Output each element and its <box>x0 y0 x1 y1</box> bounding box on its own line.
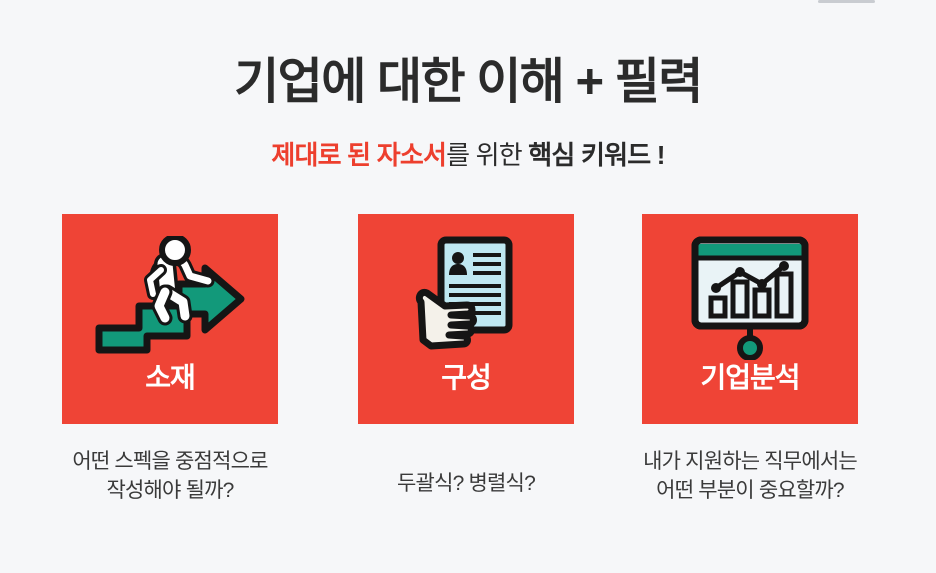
subtitle-middle: 를 위한 <box>446 140 528 170</box>
card-구성[interactable]: 구성 <box>358 214 574 424</box>
infographic-page: 기업에 대한 이해 + 필력 제대로 된 자소서를 위한 핵심 키워드 ! <box>0 0 936 573</box>
card-기업분석[interactable]: 기업분석 <box>642 214 858 424</box>
subtitle-highlight: 제대로 된 자소서 <box>271 140 446 170</box>
card-caption: 어떤 스펙을 중점적으로 작성해야 될까? <box>10 448 330 506</box>
page-subtitle: 제대로 된 자소서를 위한 핵심 키워드 ! <box>0 140 936 171</box>
page-title: 기업에 대한 이해 + 필력 <box>0 56 936 110</box>
card-caption: 내가 지원하는 직무에서는 어떤 부분이 중요할까? <box>600 448 900 506</box>
hand-holding-resume-icon <box>411 236 521 360</box>
card-label: 구성 <box>441 364 491 392</box>
subtitle-emphasis: 핵심 키워드 ! <box>528 140 664 170</box>
person-climbing-stairs-arrow-icon <box>95 236 245 360</box>
card-label: 기업분석 <box>700 364 799 392</box>
scrollbar-thumb[interactable] <box>818 0 875 3</box>
card-label: 소재 <box>145 364 195 392</box>
presentation-bar-chart-icon <box>685 236 815 360</box>
card-caption: 두괄식? 병렬식? <box>350 470 582 499</box>
card-소재[interactable]: 소재 <box>62 214 278 424</box>
